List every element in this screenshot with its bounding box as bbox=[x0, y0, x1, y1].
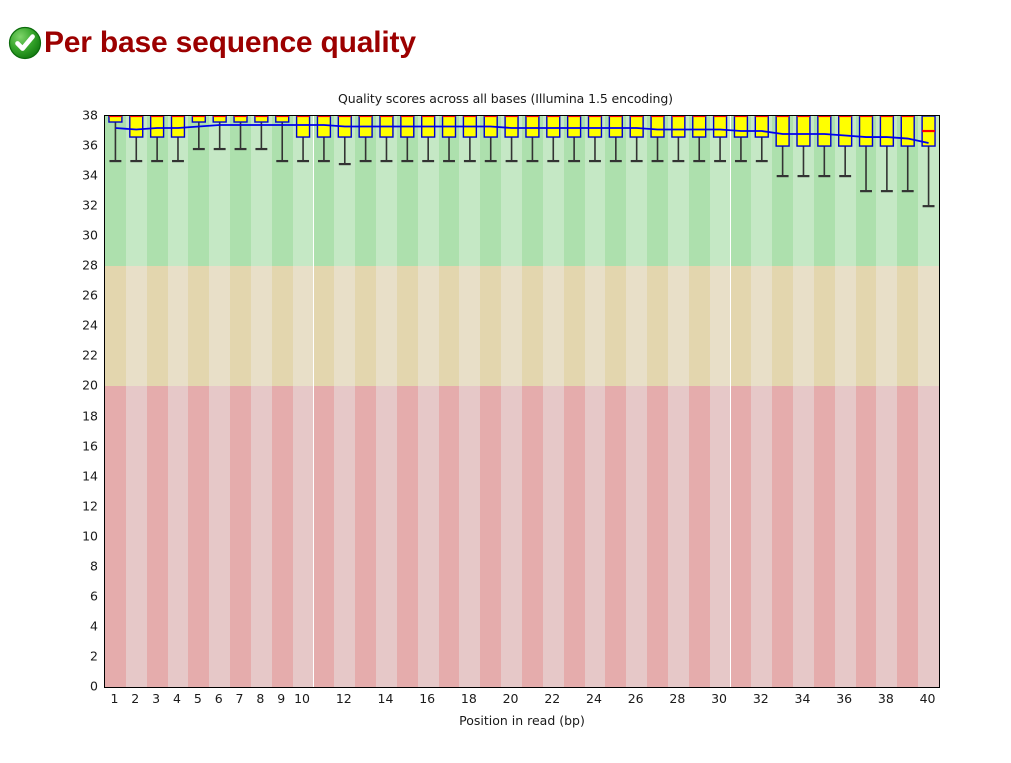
per-base-quality-chart: Quality scores across all bases (Illumin… bbox=[0, 86, 1011, 746]
boxplot-1 bbox=[109, 116, 122, 161]
y-axis-tick: 12 bbox=[62, 498, 98, 513]
boxplot-36 bbox=[839, 116, 852, 176]
iqr-box bbox=[651, 116, 664, 137]
x-axis-tick: 6 bbox=[215, 691, 223, 706]
x-axis-tick: 10 bbox=[294, 691, 310, 706]
y-axis-tick: 24 bbox=[62, 318, 98, 333]
iqr-box bbox=[630, 116, 643, 137]
boxplot-15 bbox=[401, 116, 414, 161]
chart-title: Quality scores across all bases (Illumin… bbox=[0, 91, 1011, 106]
iqr-box bbox=[151, 116, 164, 137]
x-axis-tick: 16 bbox=[419, 691, 435, 706]
boxplot-14 bbox=[380, 116, 393, 161]
iqr-box bbox=[589, 116, 602, 137]
boxplot-25 bbox=[609, 116, 622, 161]
iqr-box bbox=[693, 116, 706, 137]
boxplot-27 bbox=[651, 116, 664, 161]
boxplot-37 bbox=[860, 116, 873, 191]
boxplot-31 bbox=[734, 116, 747, 161]
boxplot-30 bbox=[714, 116, 727, 161]
iqr-box bbox=[901, 116, 914, 146]
boxplot-26 bbox=[630, 116, 643, 161]
boxplot-series bbox=[105, 116, 939, 687]
boxplot-2 bbox=[130, 116, 143, 161]
boxplot-40 bbox=[922, 116, 935, 206]
boxplot-20 bbox=[505, 116, 518, 161]
boxplot-17 bbox=[443, 116, 456, 161]
boxplot-12 bbox=[338, 116, 351, 164]
iqr-box bbox=[130, 116, 143, 137]
x-axis-tick: 3 bbox=[152, 691, 160, 706]
x-axis-tick: 32 bbox=[753, 691, 769, 706]
y-axis-tick: 34 bbox=[62, 168, 98, 183]
x-axis-tick: 1 bbox=[110, 691, 118, 706]
iqr-box bbox=[526, 116, 539, 137]
x-axis-tick: 36 bbox=[836, 691, 852, 706]
x-axis-tick: 4 bbox=[173, 691, 181, 706]
iqr-box bbox=[317, 116, 330, 137]
iqr-box bbox=[172, 116, 185, 137]
x-axis-tick: 12 bbox=[336, 691, 352, 706]
y-axis-tick: 20 bbox=[62, 378, 98, 393]
page-title: Per base sequence quality bbox=[44, 26, 416, 60]
page-header: Per base sequence quality bbox=[8, 26, 416, 60]
boxplot-11 bbox=[317, 116, 330, 161]
x-axis-tick: 34 bbox=[795, 691, 811, 706]
iqr-box bbox=[672, 116, 685, 137]
y-axis-tick: 32 bbox=[62, 198, 98, 213]
plot-area bbox=[104, 115, 940, 688]
y-axis-tick: 18 bbox=[62, 408, 98, 423]
x-axis-tick: 22 bbox=[544, 691, 560, 706]
x-axis-tick: 28 bbox=[669, 691, 685, 706]
x-axis-tick: 38 bbox=[878, 691, 894, 706]
x-axis-tick: 9 bbox=[277, 691, 285, 706]
boxplot-7 bbox=[234, 116, 247, 149]
iqr-box bbox=[818, 116, 831, 146]
y-axis-tick: 14 bbox=[62, 468, 98, 483]
iqr-box bbox=[547, 116, 560, 137]
boxplot-5 bbox=[192, 116, 205, 149]
boxplot-34 bbox=[797, 116, 810, 176]
iqr-box bbox=[797, 116, 810, 146]
x-axis-title: Position in read (bp) bbox=[104, 713, 940, 728]
boxplot-33 bbox=[776, 116, 789, 176]
iqr-box bbox=[755, 116, 768, 137]
boxplot-21 bbox=[526, 116, 539, 161]
x-axis-tick: 26 bbox=[628, 691, 644, 706]
boxplot-8 bbox=[255, 116, 268, 149]
iqr-box bbox=[776, 116, 789, 146]
x-axis-tick: 2 bbox=[131, 691, 139, 706]
boxplot-16 bbox=[422, 116, 435, 161]
x-axis-tick: 5 bbox=[194, 691, 202, 706]
boxplot-39 bbox=[901, 116, 914, 191]
y-axis-tick: 6 bbox=[62, 588, 98, 603]
x-axis-tick: 30 bbox=[711, 691, 727, 706]
boxplot-38 bbox=[880, 116, 893, 191]
x-axis-labels: 1234567891012141618202224262830323436384… bbox=[104, 687, 940, 711]
iqr-box bbox=[297, 116, 310, 137]
x-axis-tick: 24 bbox=[586, 691, 602, 706]
boxplot-3 bbox=[151, 116, 164, 161]
boxplot-23 bbox=[568, 116, 581, 161]
boxplot-32 bbox=[755, 116, 768, 161]
x-axis-tick: 18 bbox=[461, 691, 477, 706]
x-axis-tick: 40 bbox=[920, 691, 936, 706]
iqr-box bbox=[860, 116, 873, 146]
boxplot-22 bbox=[547, 116, 560, 161]
y-axis-tick: 4 bbox=[62, 618, 98, 633]
x-axis-tick: 7 bbox=[236, 691, 244, 706]
iqr-box bbox=[609, 116, 622, 137]
y-axis-tick: 10 bbox=[62, 528, 98, 543]
boxplot-9 bbox=[276, 116, 289, 161]
y-axis-labels: 02468101214161820222426283032343638 bbox=[58, 115, 98, 686]
boxplot-4 bbox=[172, 116, 185, 161]
iqr-box bbox=[714, 116, 727, 137]
boxplot-35 bbox=[818, 116, 831, 176]
boxplot-6 bbox=[213, 116, 226, 149]
iqr-box bbox=[505, 116, 518, 137]
green-check-icon bbox=[8, 26, 42, 60]
y-axis-tick: 28 bbox=[62, 258, 98, 273]
y-axis-tick: 8 bbox=[62, 558, 98, 573]
y-axis-tick: 36 bbox=[62, 138, 98, 153]
y-axis-tick: 0 bbox=[62, 679, 98, 694]
boxplot-13 bbox=[359, 116, 372, 161]
boxplot-28 bbox=[672, 116, 685, 161]
boxplot-19 bbox=[484, 116, 497, 161]
y-axis-tick: 30 bbox=[62, 228, 98, 243]
boxplot-10 bbox=[297, 116, 310, 161]
iqr-box bbox=[839, 116, 852, 146]
y-axis-tick: 38 bbox=[62, 108, 98, 123]
x-axis-tick: 8 bbox=[256, 691, 264, 706]
x-axis-tick: 14 bbox=[378, 691, 394, 706]
iqr-box bbox=[734, 116, 747, 137]
iqr-box bbox=[568, 116, 581, 137]
boxplot-29 bbox=[693, 116, 706, 161]
x-axis-tick: 20 bbox=[503, 691, 519, 706]
y-axis-tick: 26 bbox=[62, 288, 98, 303]
y-axis-tick: 16 bbox=[62, 438, 98, 453]
y-axis-tick: 2 bbox=[62, 648, 98, 663]
iqr-box bbox=[880, 116, 893, 146]
boxplot-24 bbox=[589, 116, 602, 161]
y-axis-tick: 22 bbox=[62, 348, 98, 363]
boxplot-18 bbox=[463, 116, 476, 161]
